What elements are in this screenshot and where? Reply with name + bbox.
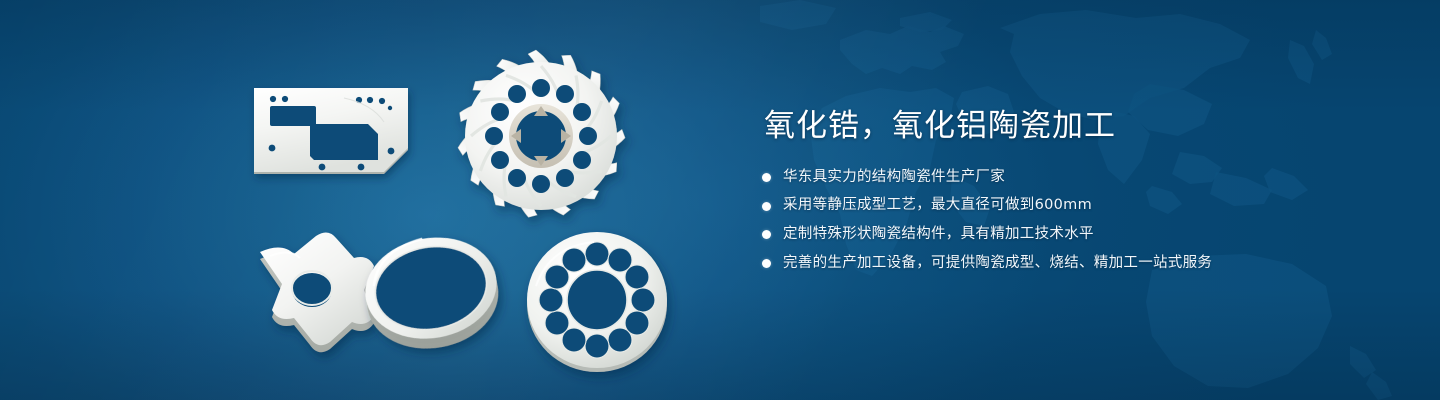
ceramic-rings-stack: [352, 226, 512, 362]
feature-list: 华东具实力的结构陶瓷件生产厂家 采用等静压成型工艺，最大直径可做到600mm 定…: [762, 167, 1382, 275]
list-item: 采用等静压成型工艺，最大直径可做到600mm: [762, 195, 1382, 217]
product-photo-group: [0, 0, 720, 400]
list-item-label: 完善的生产加工设备，可提供陶瓷成型、烧结、精加工一站式服务: [783, 253, 1212, 275]
list-item: 华东具实力的结构陶瓷件生产厂家: [762, 167, 1382, 189]
bullet-dot-icon: [762, 173, 771, 182]
list-item: 定制特殊形状陶瓷结构件，具有精加工技术水平: [762, 224, 1382, 246]
list-item-label: 采用等静压成型工艺，最大直径可做到600mm: [783, 195, 1092, 217]
bullet-dot-icon: [762, 202, 771, 211]
ceramic-perforated-disc: [522, 228, 672, 374]
list-item: 完善的生产加工设备，可提供陶瓷成型、烧结、精加工一站式服务: [762, 253, 1382, 275]
bullet-dot-icon: [762, 259, 771, 268]
banner-text-block: 氧化锆，氧化铝陶瓷加工 华东具实力的结构陶瓷件生产厂家 采用等静压成型工艺，最大…: [762, 108, 1382, 282]
ceramic-machined-plate: [248, 78, 428, 198]
bullet-dot-icon: [762, 230, 771, 239]
list-item-label: 华东具实力的结构陶瓷件生产厂家: [783, 167, 1005, 189]
ceramic-products-banner: 氧化锆，氧化铝陶瓷加工 华东具实力的结构陶瓷件生产厂家 采用等静压成型工艺，最大…: [0, 0, 1440, 400]
list-item-label: 定制特殊形状陶瓷结构件，具有精加工技术水平: [783, 224, 1094, 246]
page-title: 氧化锆，氧化铝陶瓷加工: [764, 108, 1382, 145]
ceramic-impeller-disc: [448, 48, 634, 226]
